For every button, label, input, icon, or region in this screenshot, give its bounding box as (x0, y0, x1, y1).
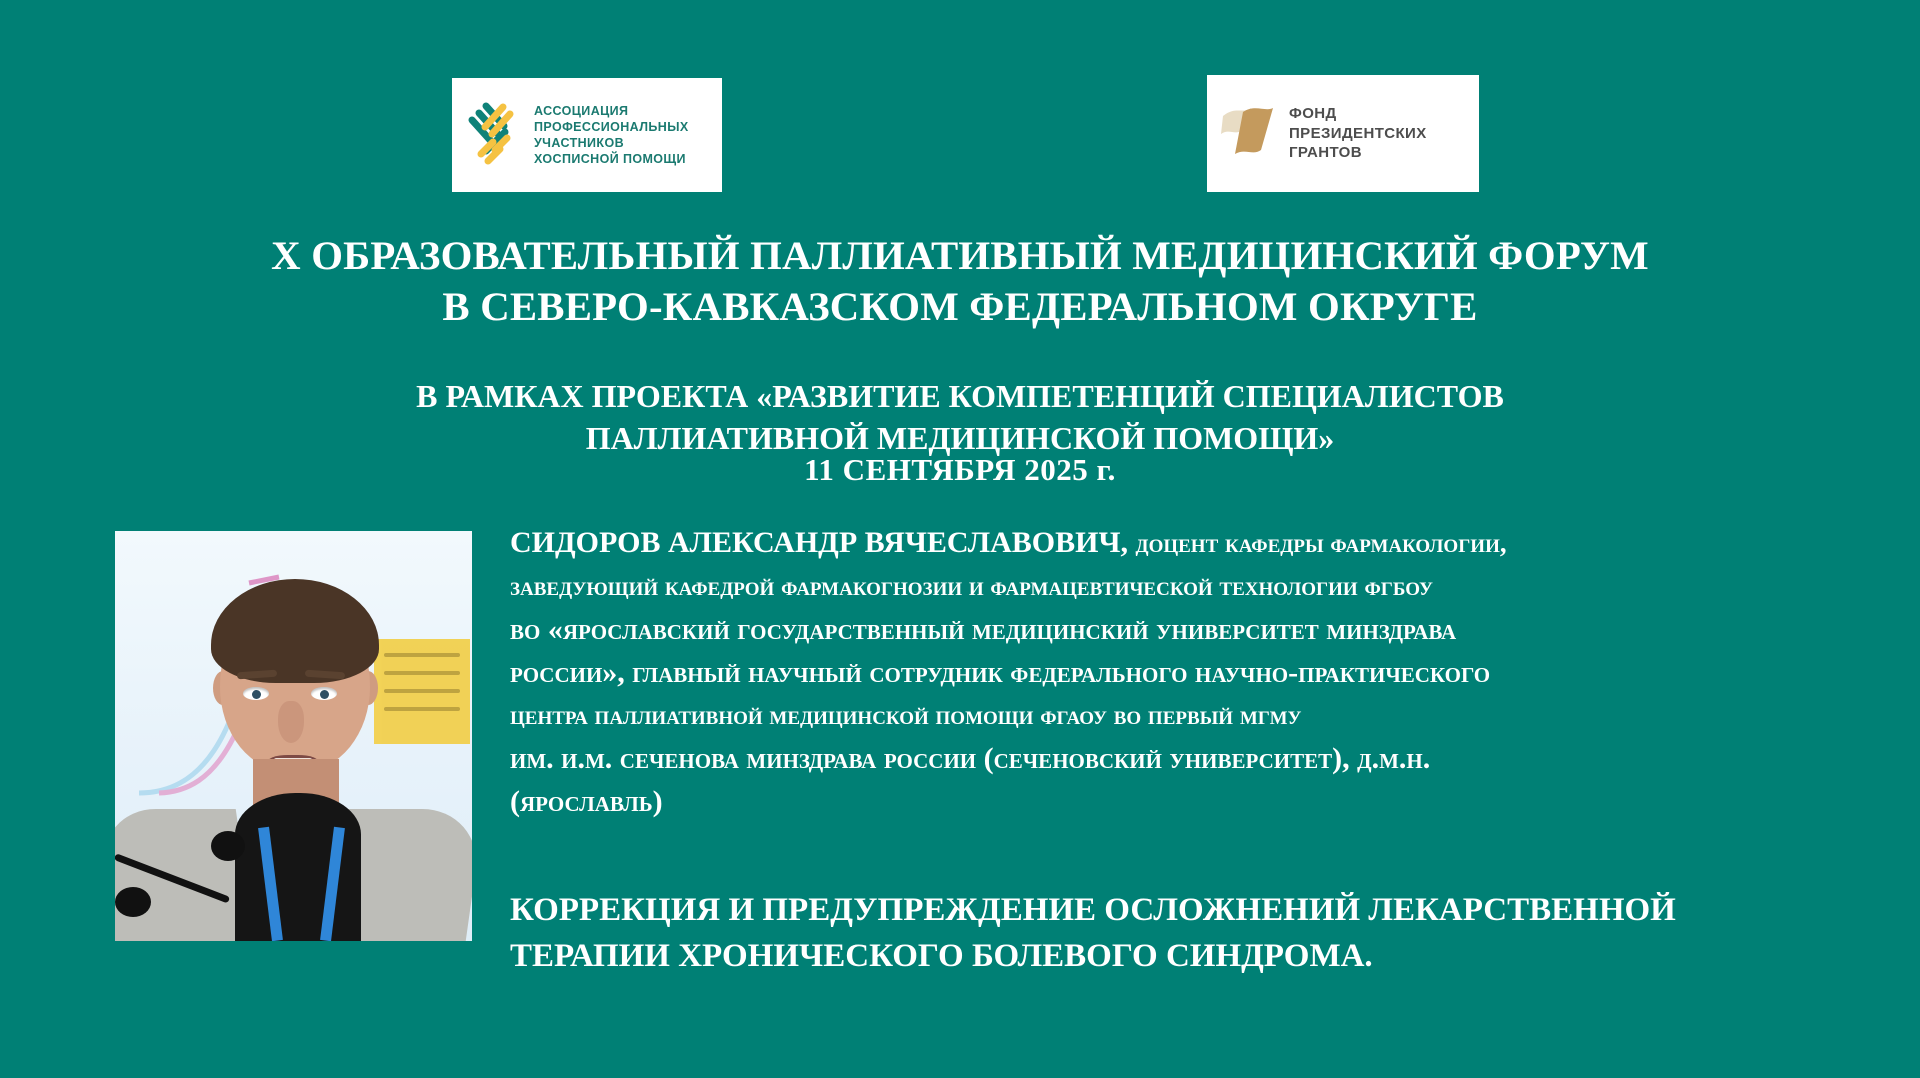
lecture-topic-line-2: ТЕРАПИИ ХРОНИЧЕСКОГО БОЛЕВОГО СИНДРОМА. (510, 933, 1890, 979)
logo-association-hospice-care: АССОЦИАЦИЯ ПРОФЕССИОНАЛЬНЫХ УЧАСТНИКОВ Х… (452, 78, 722, 192)
lecture-topic: КОРРЕКЦИЯ И ПРЕДУПРЕЖДЕНИЕ ОСЛОЖНЕНИЙ ЛЕ… (510, 887, 1890, 979)
speaker-bio-line-2: заведующий кафедрой фармакогнозии и фарм… (510, 565, 1870, 608)
association-hospice-logo-text: АССОЦИАЦИЯ ПРОФЕССИОНАЛЬНЫХ УЧАСТНИКОВ Х… (534, 103, 689, 167)
forum-title-line-2: В СЕВЕРО-КАВКАЗСКОМ ФЕДЕРАЛЬНОМ ОКРУГЕ (0, 281, 1920, 332)
speaker-portrait (115, 531, 472, 941)
speaker-bio-line-3: ВО «Ярославский государственный медицинс… (510, 608, 1870, 651)
speaker-photo (115, 531, 472, 941)
speaker-bio-fragment: доцент кафедры фармакологии, (1136, 528, 1507, 558)
speaker-bio-line-1: СИДОРОВ АЛЕКСАНДР ВЯЧЕСЛАВОВИЧ, доцент к… (510, 521, 1870, 565)
presidential-grants-logo-text: ФОНД ПРЕЗИДЕНТСКИХ ГРАНТОВ (1289, 104, 1427, 163)
project-subtitle: В РАМКАХ ПРОЕКТА «РАЗВИТИЕ КОМПЕТЕНЦИЙ С… (0, 375, 1920, 460)
logo-presidential-grants-foundation: ФОНД ПРЕЗИДЕНТСКИХ ГРАНТОВ (1207, 75, 1479, 192)
association-hospice-logo-icon (462, 98, 524, 173)
lecture-topic-line-1: КОРРЕКЦИЯ И ПРЕДУПРЕЖДЕНИЕ ОСЛОЖНЕНИЙ ЛЕ… (510, 887, 1890, 933)
speaker-bio-line-5: центра паллиативной медицинской помощи Ф… (510, 694, 1870, 737)
presidential-grants-logo-icon (1217, 100, 1279, 167)
presentation-slide: АССОЦИАЦИЯ ПРОФЕССИОНАЛЬНЫХ УЧАСТНИКОВ Х… (0, 0, 1920, 1078)
project-subtitle-line-1: В РАМКАХ ПРОЕКТА «РАЗВИТИЕ КОМПЕТЕНЦИЙ С… (0, 375, 1920, 418)
speaker-bio-line-6: им. И.М. Сеченова Минздрава России (Сече… (510, 737, 1870, 780)
forum-title: X ОБРАЗОВАТЕЛЬНЫЙ ПАЛЛИАТИВНЫЙ МЕДИЦИНСК… (0, 230, 1920, 332)
forum-title-line-1: X ОБРАЗОВАТЕЛЬНЫЙ ПАЛЛИАТИВНЫЙ МЕДИЦИНСК… (0, 230, 1920, 281)
event-date: 11 СЕНТЯБРЯ 2025 г. (0, 452, 1920, 488)
speaker-bio: СИДОРОВ АЛЕКСАНДР ВЯЧЕСЛАВОВИЧ, доцент к… (510, 521, 1870, 823)
speaker-name: СИДОРОВ АЛЕКСАНДР ВЯЧЕСЛАВОВИЧ, (510, 526, 1128, 559)
speaker-bio-line-7: (Ярославль) (510, 780, 1870, 823)
speaker-bio-line-4: России», главный научный сотрудник Федер… (510, 651, 1870, 694)
